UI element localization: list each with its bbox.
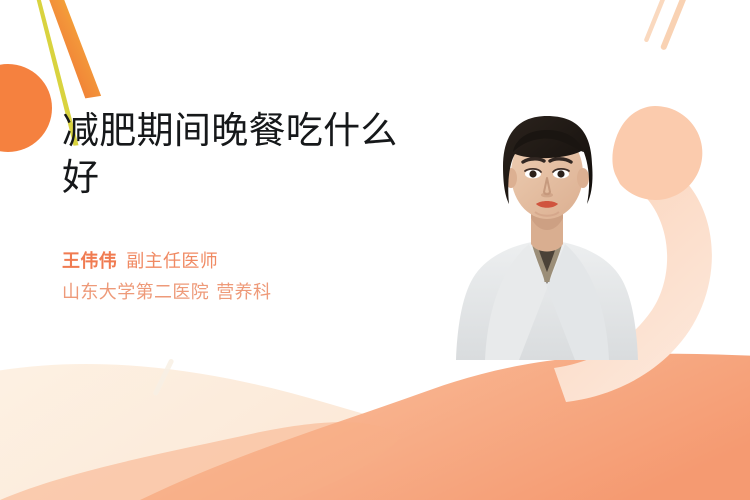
pupil-left bbox=[529, 170, 536, 177]
doctor-credit-block: 王伟伟副主任医师 山东大学第二医院营养科 bbox=[62, 246, 422, 308]
page-title: 减肥期间晚餐吃什么好 bbox=[62, 108, 422, 202]
department-name: 营养科 bbox=[216, 282, 271, 302]
pupil-right bbox=[557, 170, 564, 177]
doctor-affiliation-line: 山东大学第二医院营养科 bbox=[62, 277, 422, 308]
article-cover-card: 减肥期间晚餐吃什么好 王伟伟副主任医师 山东大学第二医院营养科 bbox=[0, 0, 750, 500]
doctor-identity-line: 王伟伟副主任医师 bbox=[62, 246, 422, 277]
hospital-name: 山东大学第二医院 bbox=[62, 282, 209, 302]
orange-circle-shape bbox=[0, 64, 52, 152]
doctor-portrait-photo bbox=[447, 92, 647, 360]
nostril-shadow bbox=[541, 193, 553, 198]
peach-diagonal-streaks-shape bbox=[644, 0, 691, 51]
ear-right bbox=[577, 168, 589, 188]
doctor-title: 副主任医师 bbox=[126, 251, 218, 271]
doctor-name: 王伟伟 bbox=[62, 251, 117, 271]
text-content-block: 减肥期间晚餐吃什么好 王伟伟副主任医师 山东大学第二医院营养科 bbox=[62, 108, 422, 308]
